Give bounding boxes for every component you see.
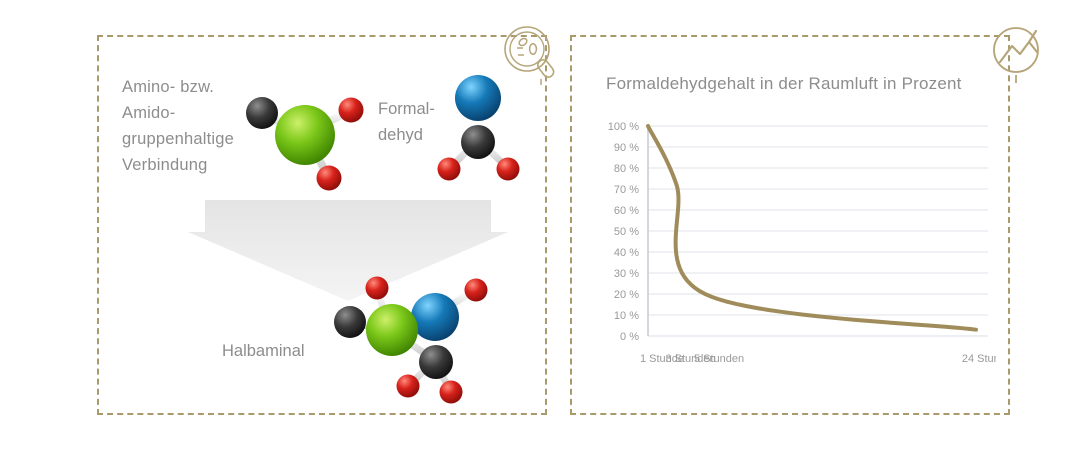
y-tick-label: 90 % — [614, 142, 639, 154]
y-tick-label: 60 % — [614, 205, 639, 217]
chart-y-tick-labels: 100 %90 %80 %70 %60 %50 %40 %30 %20 %10 … — [608, 121, 639, 343]
x-tick-label: 24 Stunden — [962, 353, 996, 365]
chart-x-tick-labels: 1 Stunde3 Stunden5 Stunden24 Stunden — [640, 353, 996, 365]
trend-chart-circle-icon — [988, 22, 1052, 86]
chart-title: Formaldehydgehalt in der Raumluft in Pro… — [606, 74, 962, 94]
y-tick-label: 80 % — [614, 163, 639, 175]
chart-svg: 100 %90 %80 %70 %60 %50 %40 %30 %20 %10 … — [596, 118, 996, 380]
y-tick-label: 50 % — [614, 226, 639, 238]
line-chart: 100 %90 %80 %70 %60 %50 %40 %30 %20 %10 … — [596, 118, 996, 380]
formaldehyde-molecule — [434, 68, 526, 188]
amino-compound-molecule — [238, 83, 374, 197]
y-tick-label: 10 % — [614, 310, 639, 322]
y-tick-label: 70 % — [614, 184, 639, 196]
y-tick-label: 0 % — [620, 331, 639, 343]
halbaminal-molecule — [322, 272, 506, 408]
y-tick-label: 100 % — [608, 121, 639, 133]
y-tick-label: 30 % — [614, 268, 639, 280]
x-tick-label: 5 Stunden — [694, 353, 744, 365]
y-tick-label: 20 % — [614, 289, 639, 301]
y-tick-label: 40 % — [614, 247, 639, 259]
chart-data-line — [648, 126, 976, 330]
slide-canvas: Amino- bzw. Amido- gruppenhaltige Verbin… — [0, 0, 1080, 462]
chart-gridlines — [648, 126, 988, 336]
